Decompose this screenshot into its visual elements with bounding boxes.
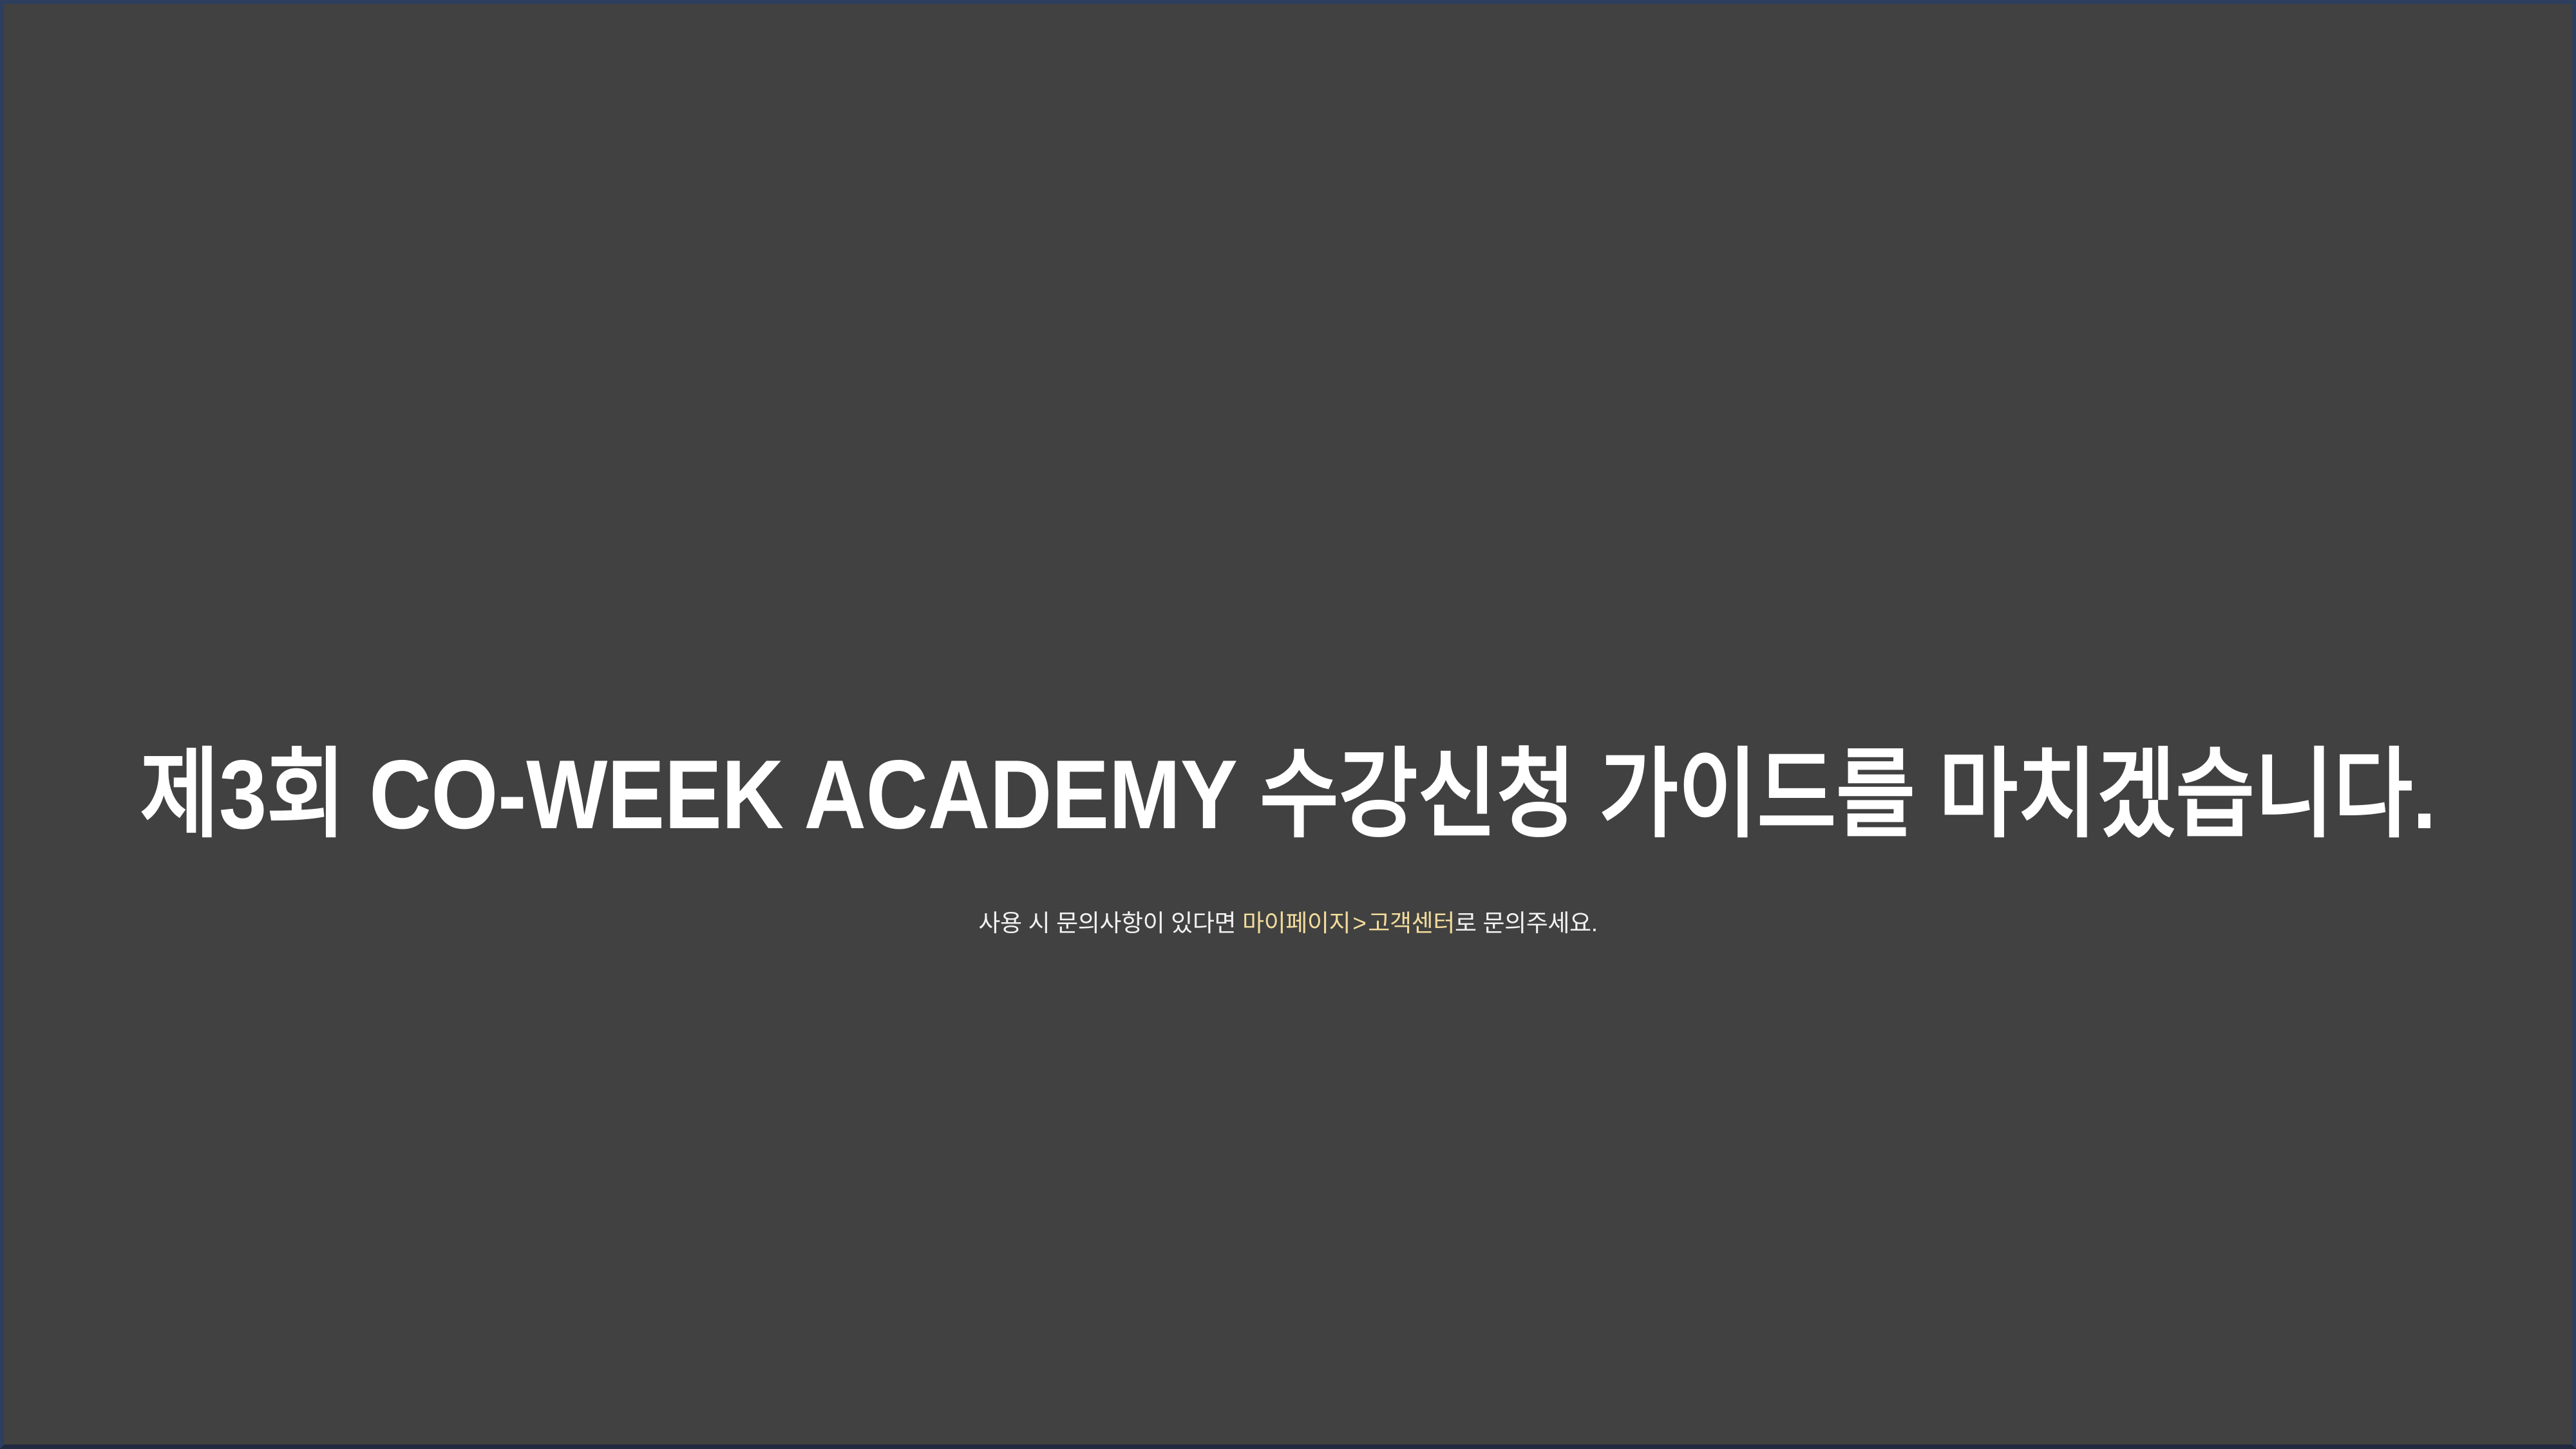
support-note: 사용 시 문의사항이 있다면 마이페이지>고객센터로 문의주세요. <box>978 911 1597 935</box>
page-title: 제3회 CO-WEEK ACADEMY 수강신청 가이드를 마치겠습니다. <box>140 746 2436 844</box>
support-note-lead: 사용 시 문의사항이 있다면 <box>978 910 1242 936</box>
chevron-right-icon: > <box>1350 910 1368 936</box>
customer-center-link[interactable]: 고객센터 <box>1368 910 1455 936</box>
closing-slide: 제3회 CO-WEEK ACADEMY 수강신청 가이드를 마치겠습니다. 사용… <box>0 0 2576 1449</box>
slide-content: 제3회 CO-WEEK ACADEMY 수강신청 가이드를 마치겠습니다. 사용… <box>4 4 2572 1444</box>
support-note-trail: 로 문의주세요. <box>1455 910 1598 936</box>
mypage-link[interactable]: 마이페이지 <box>1242 910 1350 936</box>
